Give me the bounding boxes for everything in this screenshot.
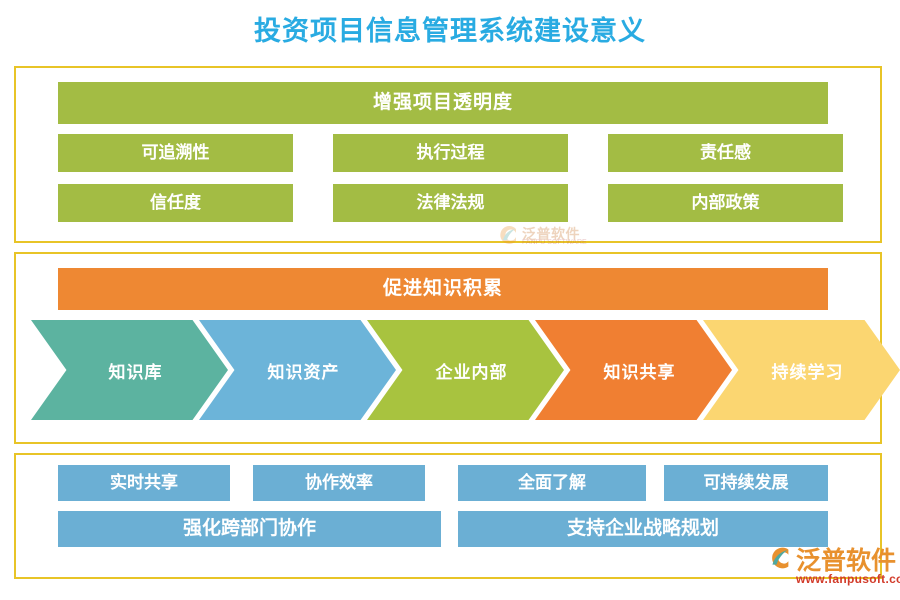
section-transparency: 增强项目透明度 可追溯性 执行过程 责任感 信任度 法律法规 内部政策 泛普软件… bbox=[14, 66, 882, 243]
chevron-continuous-learning[interactable]: 持续学习 bbox=[703, 320, 900, 420]
chevron-label: 企业内部 bbox=[424, 358, 508, 383]
watermark-name: 泛普软件 bbox=[522, 224, 580, 244]
collab-item-collaboration-efficiency[interactable]: 协作效率 bbox=[253, 465, 425, 501]
section-knowledge-banner: 促进知识积累 bbox=[58, 268, 828, 310]
transparency-item-execution-process[interactable]: 执行过程 bbox=[333, 134, 568, 172]
brand-url: www.fanpusoft.com bbox=[796, 572, 900, 586]
transparency-item-accountability[interactable]: 责任感 bbox=[608, 134, 843, 172]
chevron-label: 知识库 bbox=[97, 358, 163, 383]
transparency-item-internal-policy[interactable]: 内部政策 bbox=[608, 184, 843, 222]
watermark-subtitle: FANPU SOFTWARE bbox=[522, 239, 587, 246]
transparency-item-laws-regulations[interactable]: 法律法规 bbox=[333, 184, 568, 222]
chevron-label: 持续学习 bbox=[760, 358, 844, 383]
watermark-mark-icon bbox=[496, 223, 520, 247]
section-collaboration: 实时共享 协作效率 全面了解 可持续发展 强化跨部门协作 支持企业战略规划 bbox=[14, 453, 882, 579]
chevron-knowledge-base[interactable]: 知识库 bbox=[31, 320, 228, 420]
watermark-logo: 泛普软件 FANPU SOFTWARE bbox=[496, 223, 596, 251]
section-knowledge: 促进知识积累 知识库 知识资产 企业内部 知识共享 持续学习 bbox=[14, 252, 882, 444]
chevron-label: 知识共享 bbox=[592, 358, 676, 383]
section-transparency-banner: 增强项目透明度 bbox=[58, 82, 828, 124]
chevron-knowledge-assets[interactable]: 知识资产 bbox=[199, 320, 396, 420]
collab-item-realtime-sharing[interactable]: 实时共享 bbox=[58, 465, 230, 501]
collab-item-comprehensive-understanding[interactable]: 全面了解 bbox=[458, 465, 646, 501]
chevron-enterprise-internal[interactable]: 企业内部 bbox=[367, 320, 564, 420]
chevron-knowledge-sharing[interactable]: 知识共享 bbox=[535, 320, 732, 420]
collab-item-sustainable-development[interactable]: 可持续发展 bbox=[664, 465, 828, 501]
brand-logo: 泛普软件 www.fanpusoft.com bbox=[762, 541, 898, 593]
transparency-item-traceability[interactable]: 可追溯性 bbox=[58, 134, 293, 172]
chevron-label: 知识资产 bbox=[256, 358, 340, 383]
knowledge-chevron-flow: 知识库 知识资产 企业内部 知识共享 持续学习 bbox=[16, 320, 880, 420]
collab-item-cross-department-collaboration[interactable]: 强化跨部门协作 bbox=[58, 511, 441, 547]
transparency-item-trust[interactable]: 信任度 bbox=[58, 184, 293, 222]
fanpu-logo-icon bbox=[764, 543, 794, 573]
page-title: 投资项目信息管理系统建设意义 bbox=[0, 14, 900, 48]
